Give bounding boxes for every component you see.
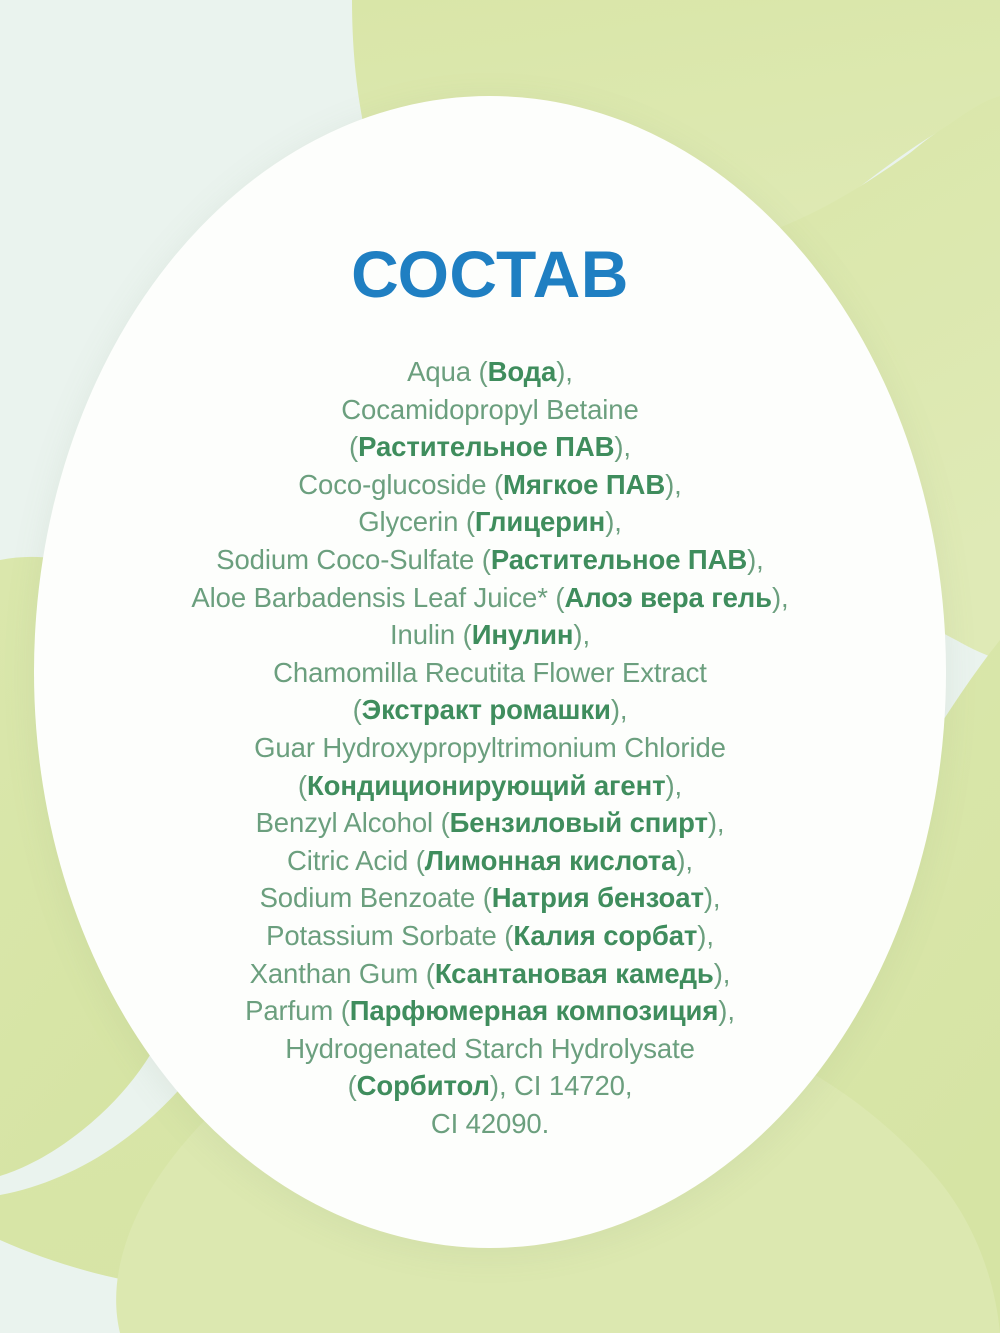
ingredient-translation: Алоэ вера гель bbox=[564, 582, 772, 613]
ingredient-translation: Лимонная кислота bbox=[425, 845, 677, 876]
ingredient-name: Aloe Barbadensis Leaf Juice* bbox=[191, 582, 555, 613]
ingredient-punctuation: ), bbox=[772, 582, 789, 613]
ingredient-line: (Растительное ПАВ), bbox=[34, 428, 946, 466]
ingredient-translation: Ксантановая камедь bbox=[435, 958, 714, 989]
ingredient-translation: Инулин bbox=[472, 619, 574, 650]
ingredient-punctuation: ( bbox=[441, 807, 450, 838]
ingredient-punctuation: ), bbox=[747, 544, 764, 575]
ingredient-name: Potassium Sorbate bbox=[266, 920, 504, 951]
ingredient-translation: Сорбитол bbox=[357, 1070, 490, 1101]
ingredient-line: Chamomilla Recutita Flower Extract bbox=[34, 654, 946, 692]
ingredient-punctuation: ), bbox=[611, 694, 628, 725]
ingredient-name: Benzyl Alcohol bbox=[256, 807, 441, 838]
ingredient-translation: Мягкое ПАВ bbox=[503, 469, 665, 500]
ingredient-punctuation: ), bbox=[556, 356, 573, 387]
ingredient-name: Coco-glucoside bbox=[298, 469, 494, 500]
page-title: СОСТАВ bbox=[351, 96, 629, 307]
ingredient-name: Cocamidopropyl Betaine bbox=[341, 394, 638, 425]
ingredient-line: CI 42090. bbox=[34, 1105, 946, 1143]
ingredient-punctuation: ), bbox=[697, 920, 714, 951]
ingredient-translation: Бензиловый спирт bbox=[450, 807, 708, 838]
ingredient-translation: Кондиционирующий агент bbox=[307, 770, 665, 801]
ingredient-name: CI 42090. bbox=[431, 1108, 549, 1139]
ingredient-punctuation: ), bbox=[708, 807, 725, 838]
ingredient-translation: Глицерин bbox=[475, 506, 605, 537]
ingredient-name: Glycerin bbox=[358, 506, 466, 537]
ingredient-punctuation: ( bbox=[479, 356, 488, 387]
ingredient-name: Chamomilla Recutita Flower Extract bbox=[273, 657, 707, 688]
ingredient-line: Coco-glucoside (Мягкое ПАВ), bbox=[34, 466, 946, 504]
ingredient-line: Glycerin (Глицерин), bbox=[34, 503, 946, 541]
ingredient-punctuation: ), bbox=[718, 995, 735, 1026]
ingredient-punctuation: ), bbox=[614, 431, 631, 462]
ingredient-translation: Натрия бензоат bbox=[492, 882, 704, 913]
ingredient-punctuation: ( bbox=[504, 920, 513, 951]
ingredient-line: Sodium Coco-Sulfate (Растительное ПАВ), bbox=[34, 541, 946, 579]
ingredient-translation: Растительное ПАВ bbox=[491, 544, 747, 575]
ingredient-punctuation: ), CI 14720, bbox=[490, 1070, 633, 1101]
ingredient-punctuation: ), bbox=[605, 506, 622, 537]
ingredient-translation: Растительное ПАВ bbox=[358, 431, 614, 462]
ingredient-punctuation: ( bbox=[466, 506, 475, 537]
ingredient-translation: Вода bbox=[488, 356, 557, 387]
ingredient-name: Aqua bbox=[407, 356, 478, 387]
ingredient-punctuation: ( bbox=[483, 882, 492, 913]
ingredient-translation: Экстракт ромашки bbox=[362, 694, 611, 725]
ingredient-name: Citric Acid bbox=[287, 845, 416, 876]
ingredient-name: Sodium Coco-Sulfate bbox=[216, 544, 482, 575]
ingredient-punctuation: ), bbox=[676, 845, 693, 876]
ingredient-punctuation: ), bbox=[573, 619, 590, 650]
ingredient-line: Sodium Benzoate (Натрия бензоат), bbox=[34, 879, 946, 917]
ingredient-line: Citric Acid (Лимонная кислота), bbox=[34, 842, 946, 880]
ingredient-punctuation: ), bbox=[704, 882, 721, 913]
ingredient-list: Aqua (Вода),Cocamidopropyl Betaine(Расти… bbox=[34, 307, 946, 1142]
ingredient-punctuation: ( bbox=[426, 958, 435, 989]
ingredient-line: Inulin (Инулин), bbox=[34, 616, 946, 654]
content-card: СОСТАВ Aqua (Вода),Cocamidopropyl Betain… bbox=[34, 96, 946, 1248]
ingredient-translation: Парфюмерная композиция bbox=[350, 995, 719, 1026]
ingredient-line: Guar Hydroxypropyltrimonium Chloride bbox=[34, 729, 946, 767]
ingredient-line: Potassium Sorbate (Калия сорбат), bbox=[34, 917, 946, 955]
ingredient-name: Inulin bbox=[390, 619, 463, 650]
ingredient-punctuation: ( bbox=[416, 845, 425, 876]
ingredient-punctuation: ( bbox=[482, 544, 491, 575]
ingredient-translation: Калия сорбат bbox=[513, 920, 697, 951]
ingredient-line: (Экстракт ромашки), bbox=[34, 691, 946, 729]
ingredient-line: Xanthan Gum (Ксантановая камедь), bbox=[34, 955, 946, 993]
ingredient-punctuation: ( bbox=[494, 469, 503, 500]
ingredient-name: Parfum bbox=[245, 995, 341, 1026]
ingredient-punctuation: ( bbox=[349, 431, 358, 462]
ingredient-name: Sodium Benzoate bbox=[260, 882, 483, 913]
ingredient-line: Cocamidopropyl Betaine bbox=[34, 391, 946, 429]
ingredient-line: Parfum (Парфюмерная композиция), bbox=[34, 992, 946, 1030]
ingredient-line: Benzyl Alcohol (Бензиловый спирт), bbox=[34, 804, 946, 842]
ingredient-punctuation: ( bbox=[341, 995, 350, 1026]
card-inner: СОСТАВ Aqua (Вода),Cocamidopropyl Betain… bbox=[34, 96, 946, 1142]
ingredient-line: (Сорбитол), CI 14720, bbox=[34, 1067, 946, 1105]
ingredient-line: Hydrogenated Starch Hydrolysate bbox=[34, 1030, 946, 1068]
ingredient-punctuation: ( bbox=[298, 770, 307, 801]
ingredient-line: Aqua (Вода), bbox=[34, 353, 946, 391]
ingredient-name: Xanthan Gum bbox=[250, 958, 426, 989]
ingredient-name: Hydrogenated Starch Hydrolysate bbox=[285, 1033, 695, 1064]
ingredient-punctuation: ( bbox=[353, 694, 362, 725]
ingredient-punctuation: ), bbox=[714, 958, 731, 989]
ingredient-punctuation: ), bbox=[665, 770, 682, 801]
ingredient-line: Aloe Barbadensis Leaf Juice* (Алоэ вера … bbox=[34, 579, 946, 617]
ingredient-punctuation: ( bbox=[463, 619, 472, 650]
ingredient-name: Guar Hydroxypropyltrimonium Chloride bbox=[254, 732, 726, 763]
ingredients-poster: СОСТАВ Aqua (Вода),Cocamidopropyl Betain… bbox=[0, 0, 1000, 1333]
ingredient-punctuation: ), bbox=[665, 469, 682, 500]
ingredient-line: (Кондиционирующий агент), bbox=[34, 767, 946, 805]
ingredient-punctuation: ( bbox=[348, 1070, 357, 1101]
